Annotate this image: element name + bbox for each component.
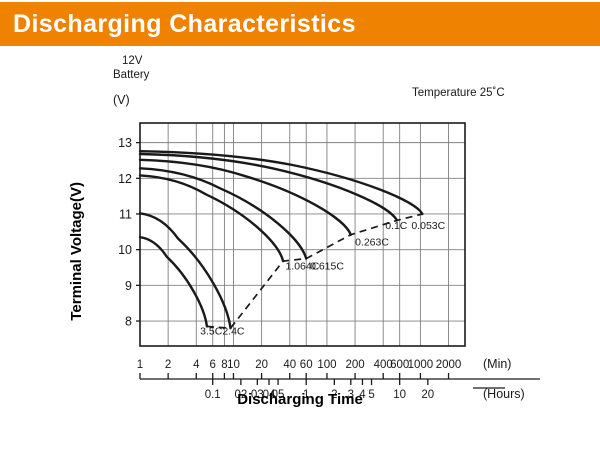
- svg-text:0.1: 0.1: [205, 389, 221, 401]
- svg-text:20: 20: [421, 389, 434, 401]
- svg-text:1: 1: [303, 389, 309, 401]
- svg-text:(Min): (Min): [483, 357, 511, 371]
- svg-text:2.4C: 2.4C: [222, 326, 245, 338]
- svg-text:1: 1: [137, 359, 143, 371]
- title-bar: Discharging Characteristics: [0, 2, 600, 46]
- svg-text:0.1C: 0.1C: [385, 220, 408, 232]
- svg-text:(Hours): (Hours): [483, 387, 525, 401]
- svg-text:Temperature 25˚C: Temperature 25˚C: [412, 87, 505, 99]
- svg-text:60: 60: [300, 359, 313, 371]
- discharge-chart: 1312111098124681020406010020040060010002…: [0, 46, 600, 451]
- svg-text:10: 10: [393, 389, 406, 401]
- svg-text:600: 600: [390, 359, 409, 371]
- svg-text:0.053C: 0.053C: [411, 220, 445, 232]
- svg-text:3.5C: 3.5C: [200, 326, 223, 338]
- svg-text:40: 40: [283, 359, 296, 371]
- svg-text:8: 8: [125, 315, 132, 329]
- chart-svg: 1312111098124681020406010020040060010002…: [0, 46, 600, 451]
- svg-text:13: 13: [118, 136, 132, 150]
- svg-text:1000: 1000: [408, 359, 434, 371]
- svg-text:200: 200: [345, 359, 364, 371]
- svg-text:2000: 2000: [436, 359, 462, 371]
- svg-text:9: 9: [125, 279, 132, 293]
- svg-text:12: 12: [118, 172, 132, 186]
- svg-text:3: 3: [348, 389, 354, 401]
- svg-text:10: 10: [118, 243, 132, 257]
- chart-labels: 1312111098124681020406010020040060010002…: [113, 55, 525, 401]
- svg-text:2: 2: [331, 389, 337, 401]
- svg-text:11: 11: [119, 207, 132, 221]
- svg-text:12V: 12V: [122, 55, 143, 67]
- svg-text:6: 6: [210, 359, 216, 371]
- svg-text:02: 02: [234, 389, 247, 401]
- page-title: Discharging Characteristics: [13, 10, 356, 39]
- svg-text:0.263C: 0.263C: [355, 236, 389, 248]
- svg-text:4: 4: [359, 389, 366, 401]
- svg-text:Battery: Battery: [113, 69, 150, 81]
- svg-text:4: 4: [193, 359, 200, 371]
- svg-text:100: 100: [317, 359, 336, 371]
- svg-text:(V): (V): [113, 93, 130, 107]
- svg-text:2: 2: [165, 359, 171, 371]
- svg-text:10: 10: [227, 359, 240, 371]
- svg-text:20: 20: [255, 359, 268, 371]
- svg-text:05: 05: [272, 389, 285, 401]
- svg-text:0.615C: 0.615C: [310, 260, 344, 272]
- svg-text:5: 5: [368, 389, 374, 401]
